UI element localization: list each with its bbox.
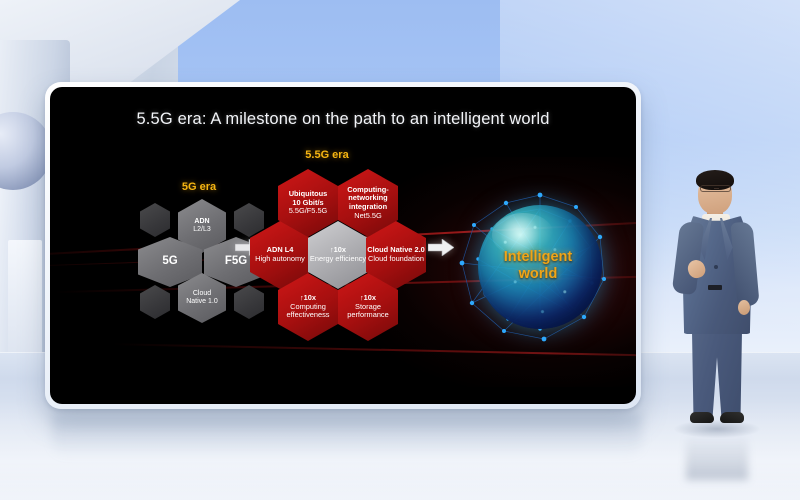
globe-caption-line1: Intelligent (448, 249, 628, 266)
hex-energy-line2: Energy efficiency (310, 255, 366, 264)
screen-floor-reflection (52, 414, 642, 458)
slide-title: 5.5G era: A milestone on the path to an … (50, 110, 636, 129)
presenter-belt (708, 285, 722, 290)
hex-cn2-line2: Cloud foundation (368, 255, 424, 264)
globe-caption-line2: world (448, 266, 628, 283)
presenter-shoe-left (690, 412, 714, 423)
era-label-55g: 5.5G era (262, 149, 392, 161)
presenter-shoe-right (720, 412, 744, 423)
hex-adn-l2l3-line1: ADN (194, 218, 209, 226)
presentation-slide: 5.5G era: A milestone on the path to an … (50, 87, 636, 404)
hex-adn-l4-line2: High autonomy (255, 255, 305, 264)
globe-caption: Intelligent world (448, 249, 628, 284)
wall-panel (8, 240, 42, 360)
presentation-screen-bezel: 5.5G era: A milestone on the path to an … (45, 82, 641, 409)
presenter-figure (668, 168, 764, 448)
era-label-5g: 5G era (144, 181, 254, 193)
presenter-jacket-button (714, 265, 718, 269)
glasses-icon (700, 185, 731, 192)
hex-cloud-native-1-line1: Cloud (193, 290, 211, 298)
hex-f5g-label: F5G (225, 255, 247, 268)
hex-ubiquitous-line3: 5.5G/F5.5G (289, 207, 328, 216)
hex-ce-line3: effectiveness (286, 311, 329, 320)
presenter-floor-reflection (686, 426, 748, 480)
hex-sp-line3: performance (347, 311, 389, 320)
hex-adn-l2l3-line2: L2/L3 (193, 226, 211, 234)
stage-scene: 5.5G era: A milestone on the path to an … (0, 0, 800, 500)
hex-empty-3 (140, 285, 170, 319)
hex-cni-line4: Net5.5G (354, 212, 382, 221)
hex-cloud-native-1-line2: Native 1.0 (186, 298, 218, 306)
cluster-55g-era: Ubiquitous 10 Gbit/s 5.5G/F5.5G Computin… (250, 169, 450, 349)
hex-empty-1 (140, 203, 170, 237)
presenter-hand-right (738, 300, 750, 315)
intelligent-world-globe: Intelligent world (448, 191, 628, 359)
hex-5g-label: 5G (162, 255, 177, 268)
cluster-5g-era: ADN L2/L3 5G F5G Cloud Native 1.0 (138, 199, 266, 323)
